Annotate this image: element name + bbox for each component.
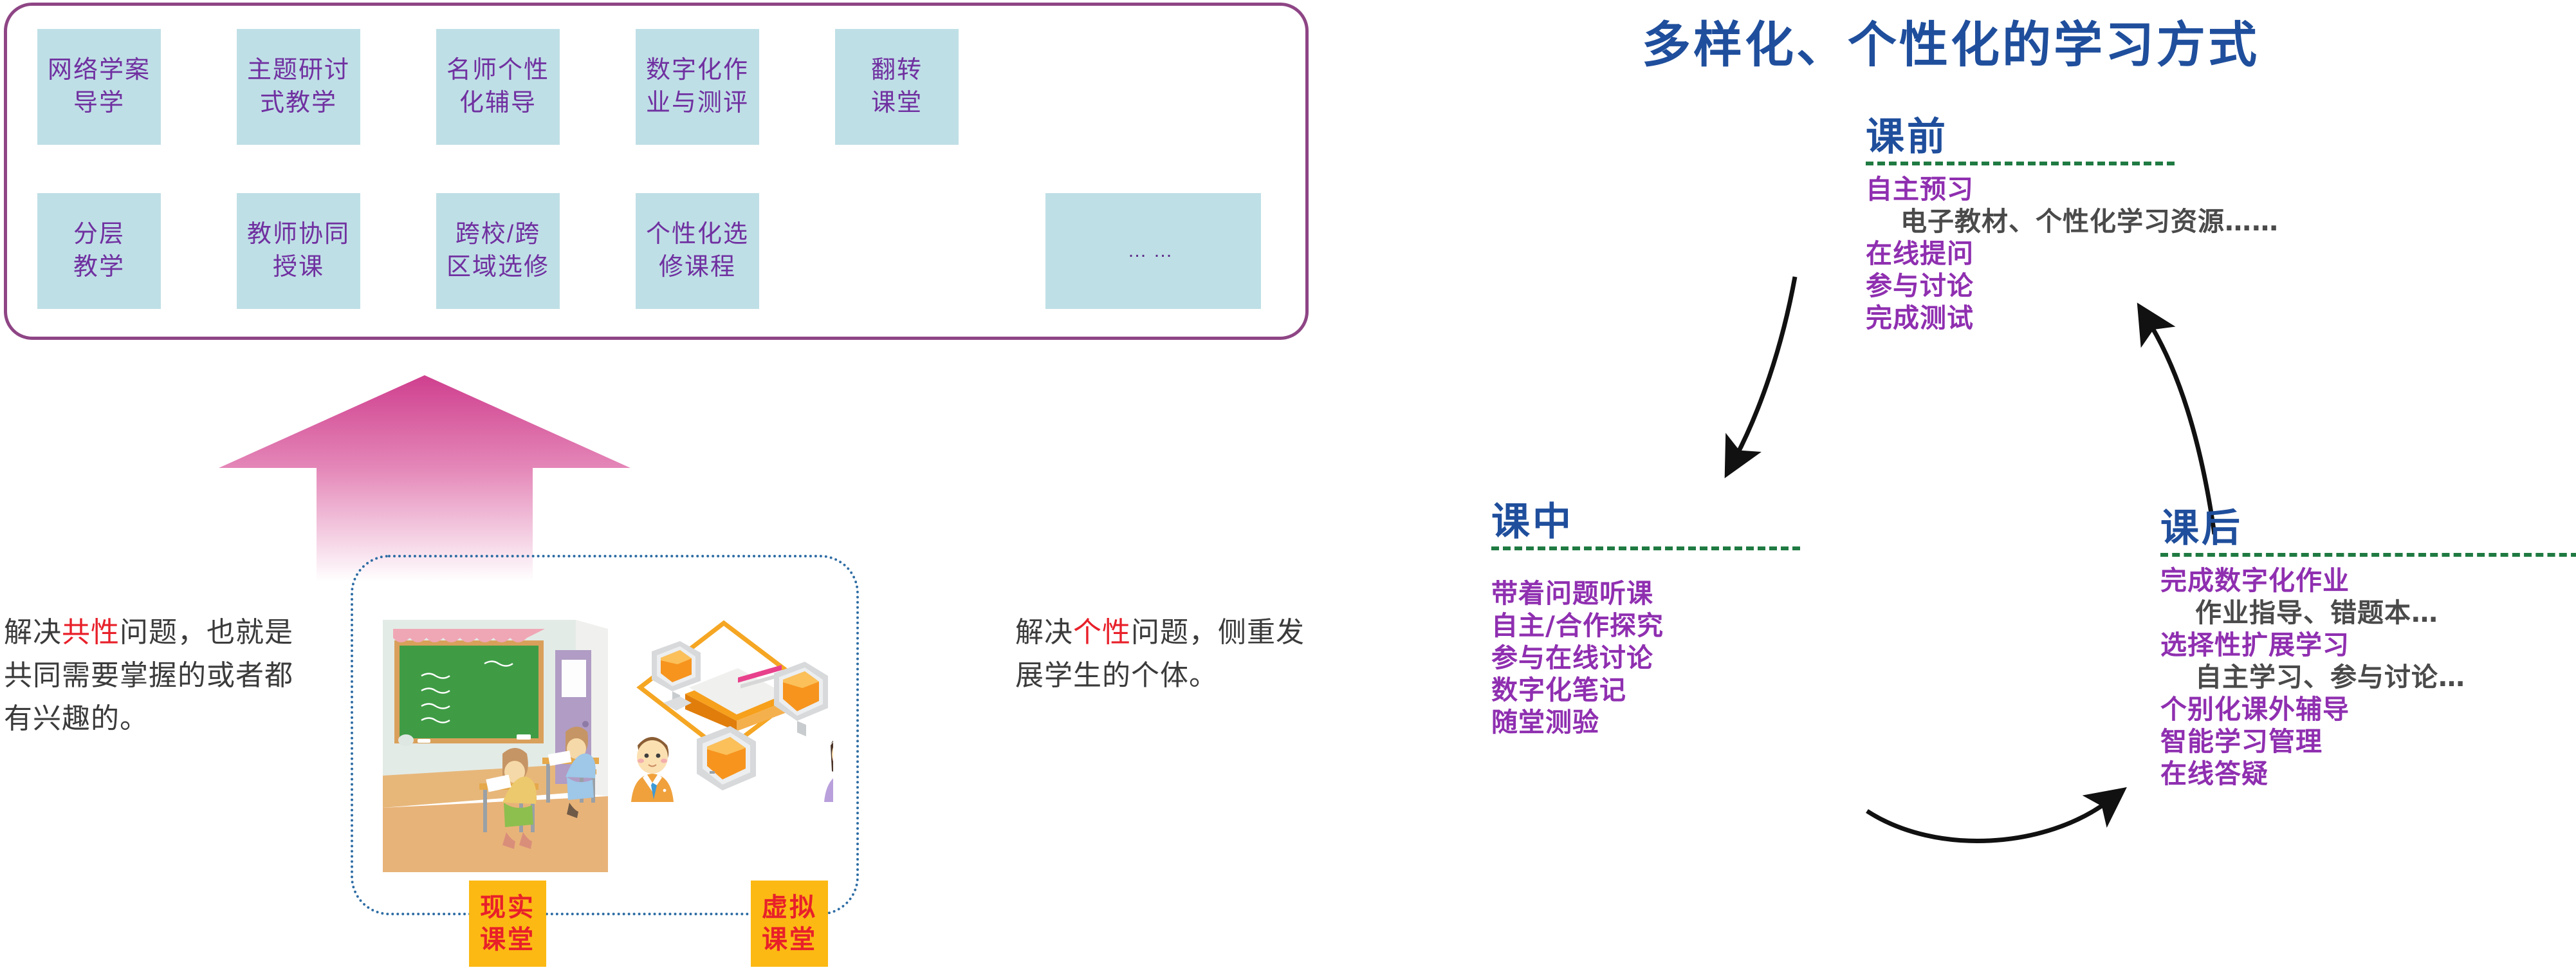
stage-entry[interactable]: 带着问题听课	[1491, 577, 1800, 610]
chip-line-1: 数字化作	[646, 54, 749, 87]
stage-divider	[1866, 162, 2175, 165]
stage-entry[interactable]: 参与在线讨论	[1491, 642, 1800, 674]
stage-subentry: 电子教材、个性化学习资源……	[1866, 205, 2279, 238]
method-chip[interactable]: 数字化作 业与测评	[636, 29, 759, 145]
stage-entry[interactable]: 智能学习管理	[2160, 725, 2576, 758]
method-chip[interactable]: 教师协同 授课	[237, 193, 360, 309]
chip-line-1: 翻转	[871, 54, 923, 87]
arrow-pre-to-mid	[1735, 277, 1795, 458]
stage-entry[interactable]: 数字化笔记	[1491, 674, 1800, 706]
stage-entry[interactable]: 个别化课外辅导	[2160, 693, 2576, 725]
stage-heading: 课前	[1866, 117, 2279, 158]
chip-line-2: 化辅导	[459, 87, 537, 120]
method-chip[interactable]: 跨校/跨 区域选修	[436, 193, 560, 309]
stage-divider	[2160, 553, 2576, 557]
method-chip[interactable]: 翻转 课堂	[835, 29, 959, 145]
method-chip[interactable]: 个性化选 修课程	[636, 193, 759, 309]
chip-line-1: 网络学案	[48, 54, 151, 87]
stage-pre-class: 课前 自主预习 电子教材、个性化学习资源…… 在线提问 参与讨论 完成测试	[1866, 117, 2279, 334]
method-chip[interactable]: 主题研讨 式教学	[237, 29, 360, 145]
chip-line-2: 区域选修	[446, 251, 549, 284]
stage-entry[interactable]: 完成数字化作业	[2160, 564, 2576, 597]
chip-line-1: 名师个性	[446, 54, 549, 87]
chip-line-1: ……	[1128, 238, 1179, 265]
chip-line-2: 业与测评	[646, 87, 749, 120]
tag-line-1: 现实	[480, 891, 535, 924]
stage-entry[interactable]: 自主/合作探究	[1491, 610, 1800, 642]
chip-line-1: 主题研讨	[247, 54, 350, 87]
stage-entry[interactable]: 完成测试	[1866, 302, 2279, 334]
stage-heading: 课后	[2160, 508, 2576, 549]
chip-line-1: 教师协同	[247, 218, 350, 251]
stage-after-class: 课后 完成数字化作业 作业指导、错题本… 选择性扩展学习 自主学习、参与讨论… …	[2160, 508, 2576, 790]
real-classroom-tag[interactable]: 现实 课堂	[469, 881, 546, 967]
method-chip[interactable]: 名师个性 化辅导	[436, 29, 560, 145]
classroom-illustration	[376, 615, 833, 872]
pink-up-arrow-icon	[212, 357, 637, 583]
stage-entry-list: 自主预习 电子教材、个性化学习资源…… 在线提问 参与讨论 完成测试	[1866, 173, 2279, 334]
paragraph-highlight: 共性	[62, 617, 120, 648]
paragraph-prefix: 解决	[1015, 617, 1073, 648]
chip-line-2: 授课	[273, 251, 324, 284]
individuality-paragraph: 解决个性问题，侧重发展学生的个体。	[1015, 611, 1318, 698]
stage-entry[interactable]: 选择性扩展学习	[2160, 629, 2576, 661]
commonality-paragraph: 解决共性问题，也就是共同需要掌握的或者都有兴趣的。	[4, 611, 306, 741]
arrow-mid-to-post	[1867, 801, 2109, 841]
chip-line-1: 个性化选	[646, 218, 749, 251]
stage-entry[interactable]: 在线答疑	[2160, 758, 2576, 790]
stage-entry[interactable]: 随堂测验	[1491, 706, 1800, 738]
method-chip-ellipsis[interactable]: ……	[1045, 193, 1261, 309]
tag-line-2: 课堂	[480, 924, 535, 956]
chip-line-2: 式教学	[260, 87, 337, 120]
paragraph-prefix: 解决	[4, 617, 62, 648]
stage-entry-list: 带着问题听课 自主/合作探究 参与在线讨论 数字化笔记 随堂测验	[1491, 577, 1800, 738]
virtual-classroom-tag[interactable]: 虚拟 课堂	[751, 881, 828, 967]
chip-line-1: 分层	[73, 218, 125, 251]
stage-entry[interactable]: 自主预习	[1866, 173, 2279, 205]
chip-line-2: 导学	[73, 87, 125, 120]
stage-subentry: 自主学习、参与讨论…	[2160, 661, 2576, 693]
chip-line-2: 教学	[73, 251, 125, 284]
stage-subentry: 作业指导、错题本…	[2160, 597, 2576, 629]
stage-divider	[1491, 546, 1800, 550]
arrow-post-to-pre	[2149, 322, 2214, 534]
stage-entry-list: 完成数字化作业 作业指导、错题本… 选择性扩展学习 自主学习、参与讨论… 个别化…	[2160, 564, 2576, 790]
stage-in-class: 课中 带着问题听课 自主/合作探究 参与在线讨论 数字化笔记 随堂测验	[1491, 502, 1800, 738]
method-chip[interactable]: 分层 教学	[37, 193, 161, 309]
method-chip[interactable]: 网络学案 导学	[37, 29, 161, 145]
paragraph-highlight: 个性	[1073, 617, 1131, 648]
chip-line-2: 课堂	[871, 87, 923, 120]
chip-line-2: 修课程	[659, 251, 736, 284]
stage-entry[interactable]: 在线提问	[1866, 238, 2279, 270]
chip-line-1: 跨校/跨	[455, 218, 541, 251]
stage-heading: 课中	[1491, 502, 1800, 543]
tag-line-1: 虚拟	[762, 891, 817, 924]
stage-entry[interactable]: 参与讨论	[1866, 270, 2279, 302]
tag-line-2: 课堂	[762, 924, 817, 956]
